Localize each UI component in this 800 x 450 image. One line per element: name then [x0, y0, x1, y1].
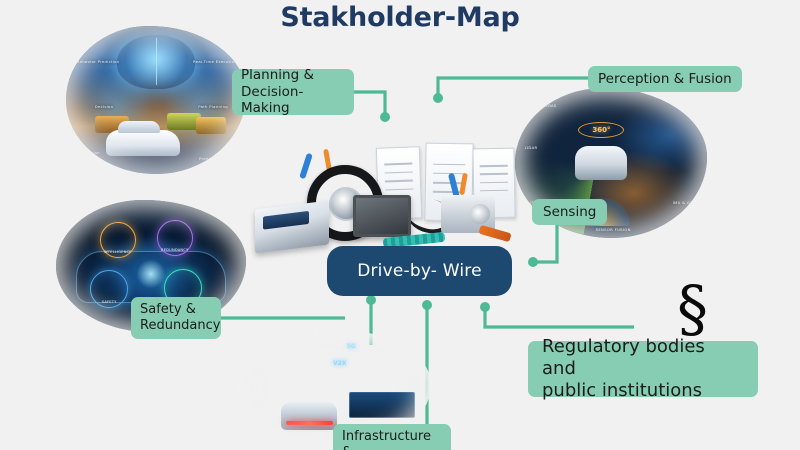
drive-by-wire-hardware-photo	[255, 143, 517, 261]
vignette	[66, 26, 246, 174]
node-regulatory-line2: public institutions	[542, 380, 744, 402]
link-planning	[354, 92, 385, 117]
node-perception-fusion[interactable]: Perception & Fusion	[588, 66, 742, 92]
node-sensing-label: Sensing	[543, 204, 596, 220]
node-regulatory-line1: Regulatory bodies and	[542, 336, 744, 380]
section-sign-icon: §	[677, 278, 708, 340]
node-infrastructure-communication[interactable]: Infrastructure & Communication	[333, 424, 451, 450]
link-dot-planning	[380, 112, 390, 122]
node-sensing[interactable]: Sensing	[532, 199, 607, 225]
link-dot-infrastructure-2	[422, 300, 432, 310]
ai-planning-image: Behavior Prediction Real-Time Execution …	[66, 26, 246, 174]
link-dot-sensing	[528, 257, 538, 267]
node-safety-redundancy[interactable]: Safety & Redundancy	[131, 297, 221, 339]
link-dot-perception	[433, 93, 443, 103]
node-planning-decision-making[interactable]: Planning & Decision-Making	[232, 69, 354, 115]
node-safety-line1: Safety &	[140, 302, 220, 318]
stakeholder-map-diagram: Stakholder-Map	[0, 0, 800, 450]
orange-connector-plug	[478, 225, 511, 242]
node-perception-label: Perception & Fusion	[598, 71, 732, 87]
link-dot-infrastructure	[366, 295, 376, 305]
ecu-control-unit	[255, 200, 329, 253]
display-screen	[353, 195, 411, 237]
center-node-label: Drive-by- Wire	[357, 261, 482, 281]
node-infrastructure-line1: Infrastructure &	[342, 429, 444, 450]
node-safety-line2: Redundancy	[140, 318, 220, 334]
blue-hose-1	[299, 153, 313, 180]
link-regulatory	[485, 307, 634, 327]
node-planning-line1: Planning &	[241, 67, 345, 83]
center-node-drive-by-wire[interactable]: Drive-by- Wire	[327, 246, 512, 296]
node-regulatory-bodies[interactable]: Regulatory bodies and public institution…	[528, 341, 758, 397]
link-dot-regulatory	[480, 302, 490, 312]
node-planning-line2: Decision-Making	[241, 84, 345, 117]
